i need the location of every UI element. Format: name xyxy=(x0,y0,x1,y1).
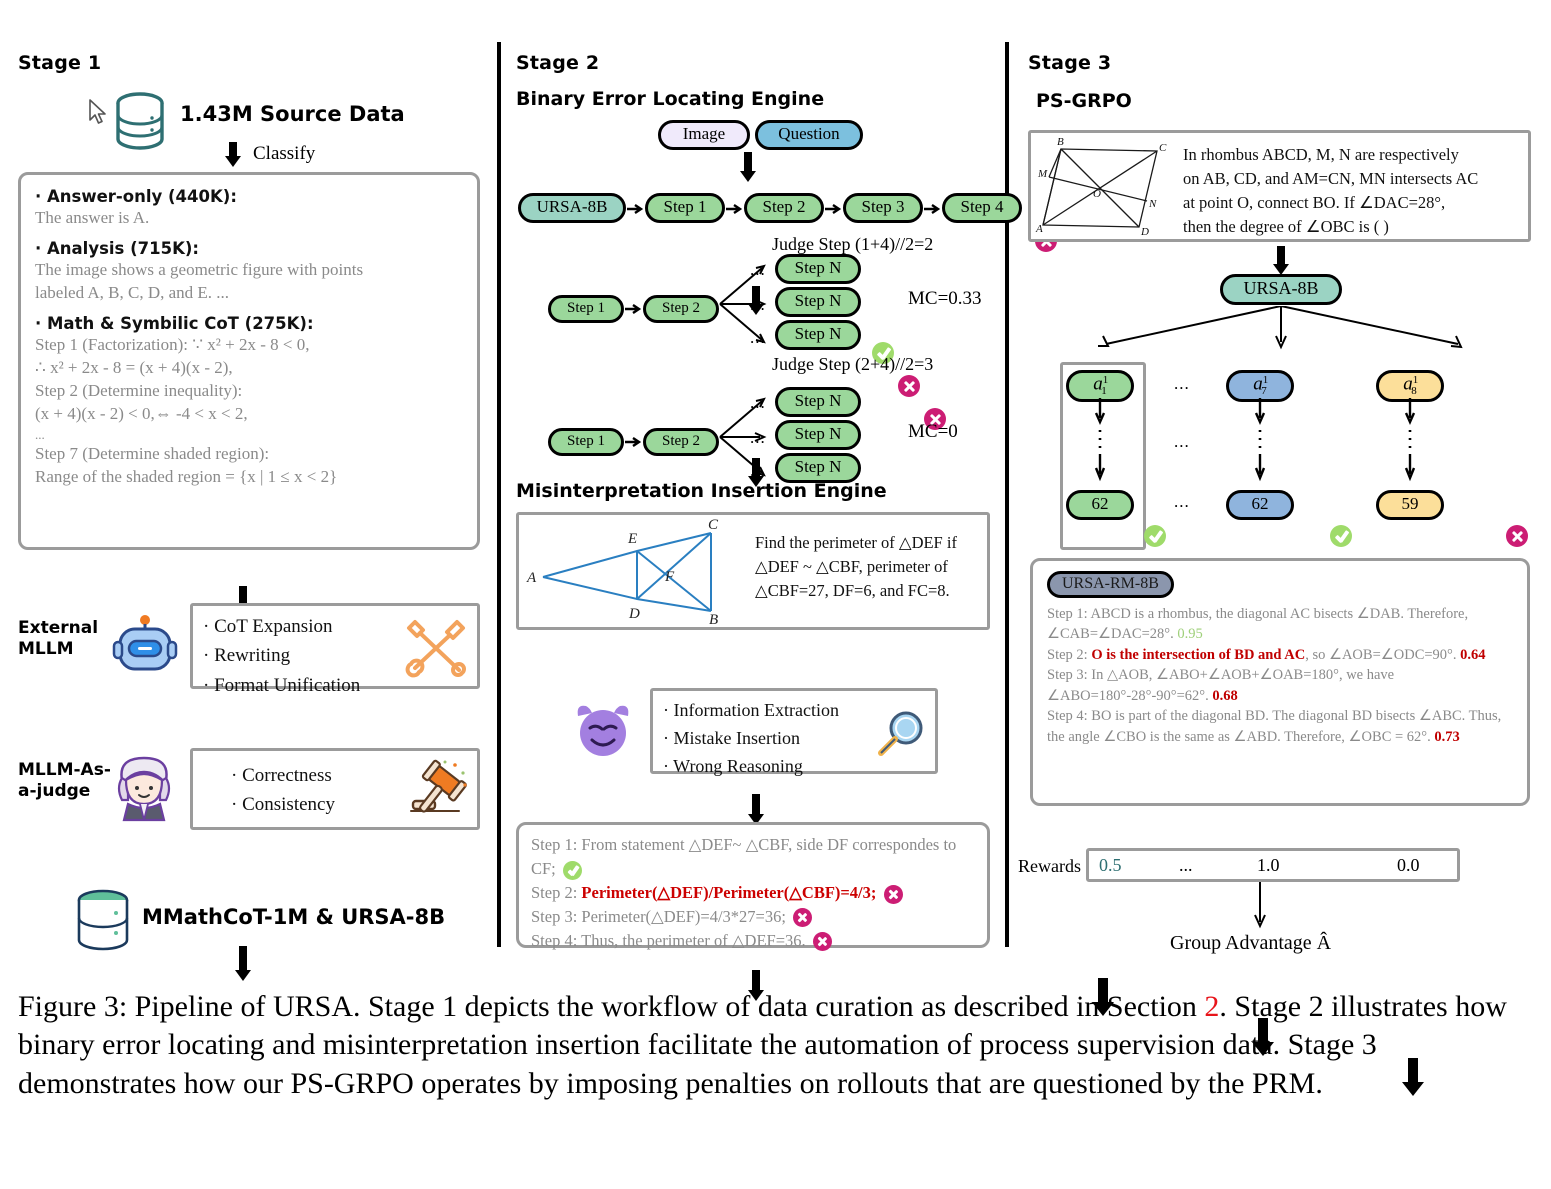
chain-node-step4[interactable]: Step 4 xyxy=(942,193,1022,223)
stage3-question-line-0: In rhombus ABCD, M, N are respectively xyxy=(1183,143,1523,167)
external-mllm-label: External MLLM xyxy=(18,618,98,661)
output-database-icon xyxy=(72,888,134,954)
rm-step-2: Step 3: In △AOB, ∠ABO+∠AOB+∠OAB=180°, we… xyxy=(1047,665,1513,706)
stage-1-label: Stage 1 xyxy=(18,52,101,74)
svg-text:C: C xyxy=(1159,142,1167,154)
rollout-fanout-lines xyxy=(1058,306,1518,356)
branch2-dots-1: ... xyxy=(750,428,766,448)
judge-step-1-label: Judge Step (1+4)//2=2 xyxy=(772,234,933,255)
problem-line-1: △DEF ~ △CBF, perimeter of xyxy=(755,555,985,579)
arrow-to-group-advantage xyxy=(1250,882,1270,934)
reward-value-2: 0.0 xyxy=(1397,855,1420,876)
group-advantage-label: Group Advantage Â xyxy=(1170,932,1331,955)
rollout-ellipsis-mid: ... xyxy=(1174,432,1190,452)
solution-step-3: Step 4: Thus, the perimeter of △DEF=36. xyxy=(531,929,975,953)
problem-line-0: Find the perimeter of △DEF if xyxy=(755,531,985,555)
rollout-2-badge xyxy=(1506,525,1528,547)
solution-step-1-badge xyxy=(884,885,903,904)
chain-node-ursa8b[interactable]: URSA-8B xyxy=(518,193,626,223)
cursor-pointer-icon xyxy=(88,98,110,126)
rm-step-1-prefix: Step 2: xyxy=(1047,647,1091,663)
insertion-panel: · Information Extraction · Mistake Inser… xyxy=(650,688,938,774)
branch1-dots-2: ... xyxy=(750,328,766,348)
cot-line-6: Step 7 (Determine shaded region): xyxy=(35,443,463,466)
category-head-answer-only: · Answer-only (440K): xyxy=(35,187,463,206)
branch1-leaf-2[interactable]: Step N xyxy=(775,320,861,350)
branch1-badge-1 xyxy=(898,375,920,397)
svg-text:D: D xyxy=(1140,226,1149,238)
rm-step-1-post: , so ∠AOB=∠ODC=90°. xyxy=(1305,647,1460,663)
rm-model-pill[interactable]: URSA-RM-8B xyxy=(1047,571,1174,598)
arrow-inputs-to-chain xyxy=(740,152,756,184)
branch1-leaf-0[interactable]: Step N xyxy=(775,254,861,284)
judge-panel: · Correctness · Consistency xyxy=(190,748,480,830)
rm-step-1-score: 0.64 xyxy=(1460,647,1485,663)
rm-step-0-text: Step 1: ABCD is a rhombus, the diagonal … xyxy=(1047,606,1468,643)
reward-value-ellipsis: ... xyxy=(1179,855,1193,876)
database-icon xyxy=(112,90,168,152)
source-data-label: 1.43M Source Data xyxy=(180,102,405,126)
chain-node-step3[interactable]: Step 3 xyxy=(843,193,923,223)
branch1-dots-0: ... xyxy=(750,260,766,280)
rollout-1-answer[interactable]: 62 xyxy=(1226,490,1294,520)
cot-line-2: ∴ x² + 2x - 8 = (x + 4)(x - 2), xyxy=(35,357,463,380)
stage-1-column: Stage 1 1.43M Source Data Classify · Ans… xyxy=(0,40,497,975)
stage1-output-label: MMathCoT-1M & URSA-8B xyxy=(142,905,445,929)
svg-text:C: C xyxy=(708,519,719,533)
cot-line-1: Step 1 (Factorization): ∵ x² + 2x - 8 < … xyxy=(35,334,463,357)
chain-node-step1[interactable]: Step 1 xyxy=(645,193,725,223)
stage3-model-pill[interactable]: URSA-8B xyxy=(1220,274,1342,305)
svg-text:B: B xyxy=(1057,136,1064,148)
branch2-leaf-0[interactable]: Step N xyxy=(775,387,861,417)
judge-avatar-icon xyxy=(112,752,176,822)
problem-line-2: △CBF=27, DF=6, and FC=8. xyxy=(755,579,985,603)
rollout-2-chain-arrow xyxy=(1402,398,1418,484)
binary-error-engine-title: Binary Error Locating Engine xyxy=(516,88,824,110)
stage-2-label: Stage 2 xyxy=(516,52,599,74)
stage3-question-panel: B C M N O A D In rhombus ABCD, M, N are … xyxy=(1028,130,1531,242)
rm-step-1: Step 2: O is the intersection of BD and … xyxy=(1047,645,1513,666)
column-divider-1 xyxy=(497,42,501,947)
branch2-arrow xyxy=(625,436,643,448)
solution-step-1-prefix: Step 2: xyxy=(531,883,581,902)
svg-text:O: O xyxy=(1093,188,1101,200)
ps-grpo-title: PS-GRPO xyxy=(1036,90,1132,112)
svg-text:A: A xyxy=(526,570,537,586)
magnifier-icon xyxy=(873,707,929,763)
rewards-row: 0.5 ... 1.0 0.0 xyxy=(1086,848,1460,882)
input-image-pill[interactable]: Image xyxy=(658,120,750,150)
chain-arrow-2 xyxy=(825,203,843,215)
rollout-0-sub: 1 xyxy=(1101,385,1107,397)
solution-step-2-badge xyxy=(793,908,812,927)
stage-3-label: Stage 3 xyxy=(1028,52,1111,74)
chain-arrow-1 xyxy=(726,203,744,215)
solution-step-0: Step 1: From statement △DEF~ △CBF, side … xyxy=(531,833,975,881)
stage3-question-line-1: on AB, CD, and AM=CN, MN intersects AC xyxy=(1183,167,1523,191)
solution-step-1-error-text: Perimeter(△DEF)/Perimeter(△CBF)=4/3; xyxy=(581,883,876,902)
rollout-0-badge xyxy=(1144,525,1166,547)
tools-icon xyxy=(403,616,469,678)
svg-text:M: M xyxy=(1037,168,1048,180)
misinterpretation-engine-title: Misinterpretation Insertion Engine xyxy=(516,480,887,502)
svg-text:E: E xyxy=(627,531,637,547)
rm-step-3: Step 4: BO is part of the diagonal BD. T… xyxy=(1047,706,1513,747)
rollout-2-sub: 8 xyxy=(1411,385,1417,397)
figure-caption: Figure 3: Pipeline of URSA. Stage 1 depi… xyxy=(18,988,1533,1103)
branch2-step1[interactable]: Step 1 xyxy=(548,428,624,456)
svg-text:D: D xyxy=(628,606,640,622)
branch2-leaf-1[interactable]: Step N xyxy=(775,420,861,450)
solution-step-0-text: Step 1: From statement △DEF~ △CBF, side … xyxy=(531,835,956,878)
stage3-question-line-3: then the degree of ∠OBC is ( ) xyxy=(1183,215,1523,239)
reward-model-panel: URSA-RM-8B Step 1: ABCD is a rhombus, th… xyxy=(1030,558,1530,806)
cot-line-7: Range of the shaded region = {x | 1 ≤ x … xyxy=(35,466,463,489)
arrow-to-output xyxy=(235,946,251,984)
solution-steps-panel: Step 1: From statement △DEF~ △CBF, side … xyxy=(516,822,990,948)
cot-line-3: Step 2 (Determine inequality): xyxy=(35,380,463,403)
rollout-0-chain-arrow xyxy=(1092,398,1108,484)
stage-2-column: Stage 2 Binary Error Locating Engine Ima… xyxy=(510,40,1005,975)
figure-pipeline: Stage 1 1.43M Source Data Classify · Ans… xyxy=(0,0,1551,975)
category-head-analysis: · Analysis (715K): xyxy=(35,239,463,258)
robot-icon xyxy=(112,612,178,678)
rewards-label: Rewards xyxy=(1018,856,1081,877)
geometry-problem-panel: A E C D B F Find the perimeter of △DEF i… xyxy=(516,512,990,630)
caption-pre: Figure 3: Pipeline of URSA. Stage 1 depi… xyxy=(18,990,1204,1023)
rollout-ellipsis-top: ... xyxy=(1174,374,1190,394)
rollout-1-badge xyxy=(1330,525,1352,547)
gavel-icon xyxy=(397,759,469,821)
rollout-2-answer[interactable]: 59 xyxy=(1376,490,1444,520)
rm-step-1-error-text: O is the intersection of BD and AC xyxy=(1091,647,1305,663)
input-question-pill[interactable]: Question xyxy=(755,120,863,150)
solution-step-1: Step 2: Perimeter(△DEF)/Perimeter(△CBF)=… xyxy=(531,881,975,905)
svg-text:N: N xyxy=(1148,198,1157,210)
branch1-step1[interactable]: Step 1 xyxy=(548,295,624,323)
rhombus-geometry-icon: B C M N O A D xyxy=(1035,135,1177,239)
classify-label: Classify xyxy=(253,143,315,165)
stage3-question-line-2: at point O, connect BO. If ∠DAC=28°, xyxy=(1183,191,1523,215)
solution-step-0-badge xyxy=(563,861,582,880)
cot-line-4: (x + 4)(x - 2) < 0,⇔ -4 < x < 2, xyxy=(35,403,463,426)
svg-text:B: B xyxy=(709,612,718,627)
reward-value-1: 1.0 xyxy=(1257,855,1280,876)
branch1-leaf-1[interactable]: Step N xyxy=(775,287,861,317)
rollout-1-sub: 7 xyxy=(1261,385,1267,397)
branch1-arrow xyxy=(625,303,643,315)
rollout-0-answer[interactable]: 62 xyxy=(1066,490,1134,520)
rollout-1-chain-arrow xyxy=(1252,398,1268,484)
branch2-dots-0: ... xyxy=(750,393,766,413)
solution-step-2: Step 3: Perimeter(△DEF)=4/3*27=36; xyxy=(531,905,975,929)
column-divider-2 xyxy=(1005,42,1009,947)
category-body-analysis: The image shows a geometric figure with … xyxy=(35,259,405,305)
branch1-step2[interactable]: Step 2 xyxy=(643,295,719,323)
triangle-geometry-icon: A E C D B F xyxy=(525,519,743,627)
branch1-dots-1: ... xyxy=(750,295,766,315)
arrow-to-model xyxy=(1273,246,1289,276)
rm-step-3-score: 0.73 xyxy=(1434,729,1459,745)
solution-step-2-text: Step 3: Perimeter(△DEF)=4/3*27=36; xyxy=(531,907,786,926)
judge-step-2-label: Judge Step (2+4)//2=3 xyxy=(772,354,933,375)
branch2-mc-value: MC=0 xyxy=(908,421,958,443)
solution-step-3-text: Step 4: Thus, the perimeter of △DEF=36. xyxy=(531,931,806,950)
stage-3-column: Stage 3 PS-GRPO B C M N O xyxy=(1018,40,1551,975)
category-body-answer-only: The answer is A. xyxy=(35,207,463,230)
chain-node-step2[interactable]: Step 2 xyxy=(744,193,824,223)
rm-step-2-score: 0.68 xyxy=(1212,688,1237,704)
branch2-dots-2: ... xyxy=(750,461,766,481)
branch1-mc-value: MC=0.33 xyxy=(908,288,982,310)
svg-text:F: F xyxy=(664,569,675,585)
rollout-ellipsis-bottom: ... xyxy=(1174,492,1190,512)
data-categories-panel: · Answer-only (440K): The answer is A. ·… xyxy=(18,172,480,550)
rm-step-0: Step 1: ABCD is a rhombus, the diagonal … xyxy=(1047,604,1513,645)
classify-arrow-icon xyxy=(225,142,241,170)
solution-step-3-badge xyxy=(813,932,832,951)
external-mllm-panel: · CoT Expansion · Rewriting · Format Uni… xyxy=(190,603,480,689)
mllm-judge-label: MLLM-As- a-judge xyxy=(18,760,111,803)
chain-arrow-3 xyxy=(924,203,942,215)
chain-arrow-0 xyxy=(627,203,645,215)
cot-line-5: ... xyxy=(35,426,463,444)
branch2-step2[interactable]: Step 2 xyxy=(643,428,719,456)
svg-text:A: A xyxy=(1035,223,1043,235)
caption-section-ref: 2 xyxy=(1204,990,1219,1023)
rm-step-0-score: 0.95 xyxy=(1177,626,1202,642)
reward-value-0: 0.5 xyxy=(1099,855,1122,876)
category-head-cot: · Math & Symbilic CoT (275K): xyxy=(35,314,463,333)
branch2-leaf-2[interactable]: Step N xyxy=(775,453,861,483)
devil-emoji-icon xyxy=(572,700,634,758)
